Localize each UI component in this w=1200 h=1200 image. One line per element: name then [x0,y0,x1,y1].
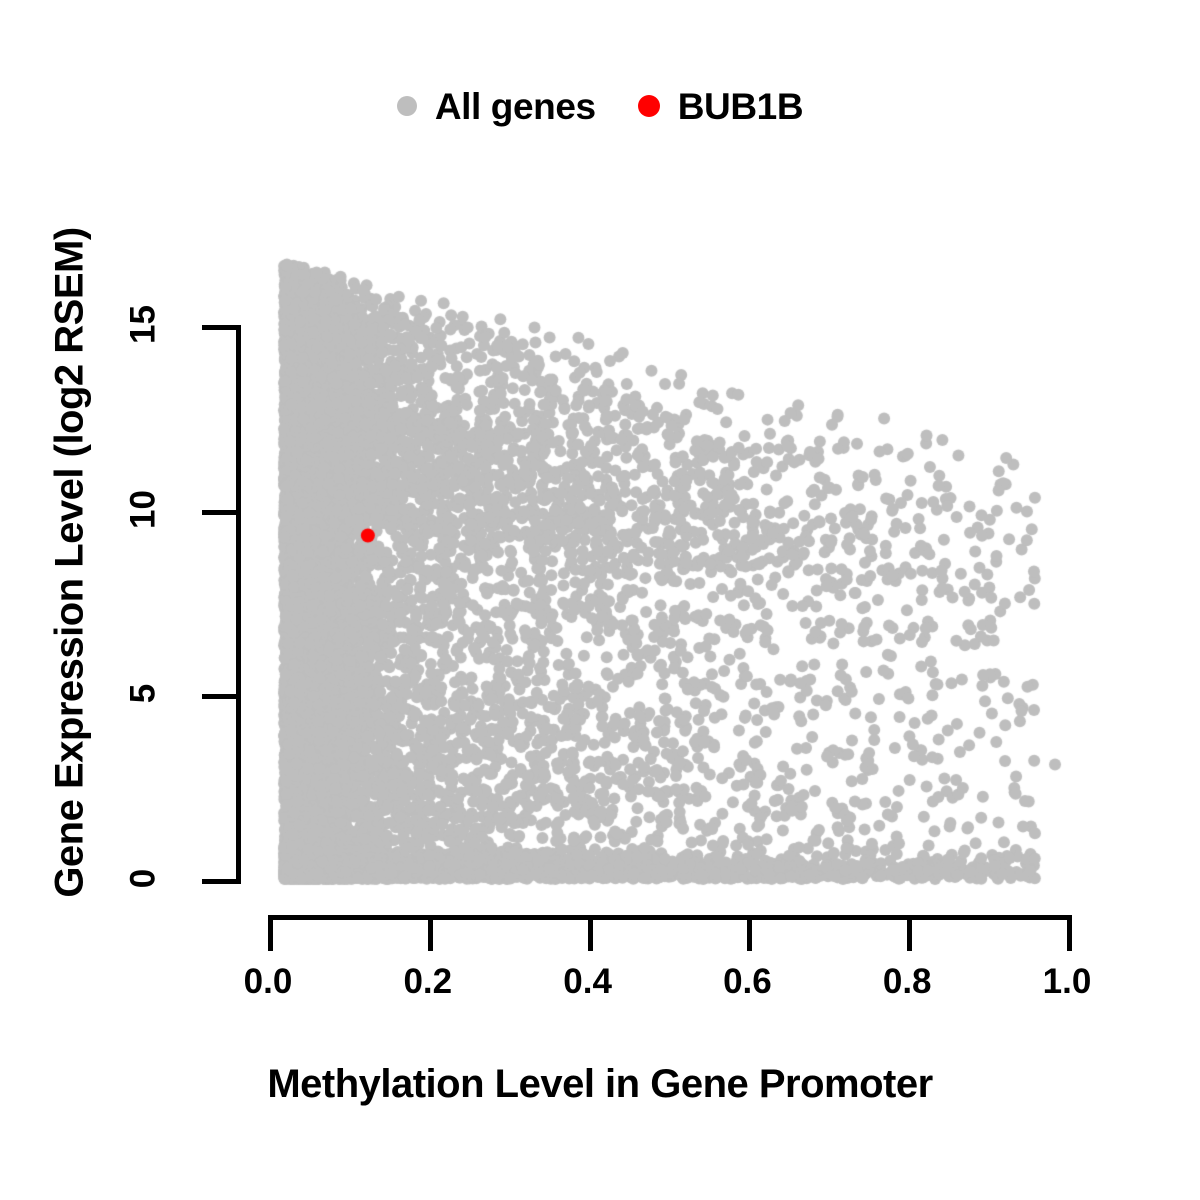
x-tick-0.8 [907,915,912,951]
x-axis-line [268,915,1072,920]
scatter-point-cloud [0,0,1200,1200]
y-tick-0 [202,879,238,884]
y-axis-line [236,325,241,884]
y-tick-label-5: 5 [126,651,161,737]
x-tick-label-0.2: 0.2 [368,964,488,999]
y-axis-title: Gene Expression Level (log2 RSEM) [48,143,93,983]
x-tick-label-0.0: 0.0 [208,964,328,999]
x-tick-0.0 [268,915,273,951]
y-tick-label-10: 10 [126,466,161,552]
x-tick-label-0.4: 0.4 [528,964,648,999]
y-tick-15 [202,325,238,330]
x-tick-label-0.6: 0.6 [687,964,807,999]
y-tick-label-0: 0 [126,836,161,922]
scatter-plot-figure: All genes BUB1B 0510150.00.20.40.60.81.0… [0,0,1200,1200]
x-tick-label-0.8: 0.8 [847,964,967,999]
x-tick-1.0 [1067,915,1072,951]
y-tick-5 [202,694,238,699]
x-tick-0.6 [747,915,752,951]
x-tick-label-1.0: 1.0 [1007,964,1127,999]
x-tick-0.2 [428,915,433,951]
y-tick-label-15: 15 [126,282,161,368]
x-tick-0.4 [588,915,593,951]
y-tick-10 [202,510,238,515]
x-axis-title: Methylation Level in Gene Promoter [0,1062,1200,1107]
